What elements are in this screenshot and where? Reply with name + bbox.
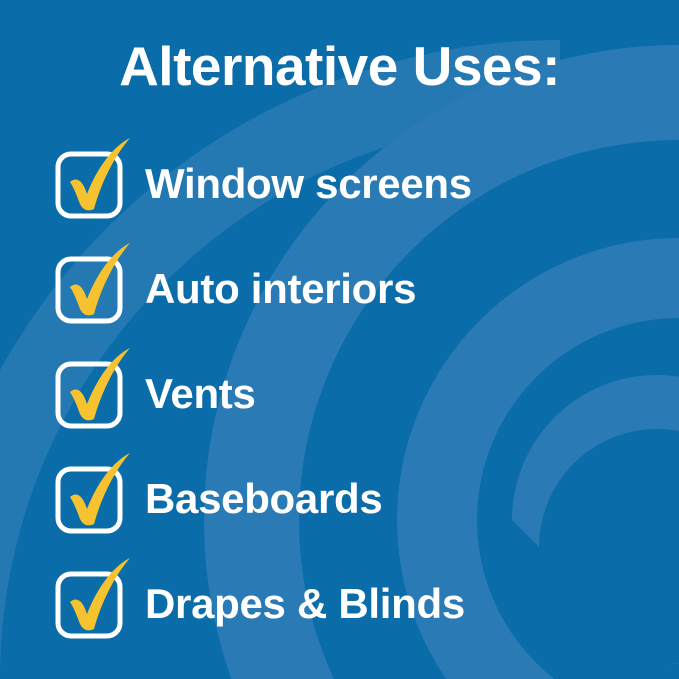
list-item-label: Window screens xyxy=(145,146,472,222)
list-item-label: Drapes & Blinds xyxy=(145,566,465,642)
list-item-label: Vents xyxy=(145,356,256,432)
checkmark-icon xyxy=(50,138,136,224)
checkmark-icon xyxy=(50,453,136,539)
alternative-uses-card: Alternative Uses: Window screens Auto in… xyxy=(0,0,679,679)
list-item[interactable]: Auto interiors xyxy=(50,243,650,348)
list-item[interactable]: Baseboards xyxy=(50,453,650,558)
checkmark-icon xyxy=(50,243,136,329)
checkbox-window-screens[interactable] xyxy=(50,138,136,224)
alternative-uses-list: Window screens Auto interiors Vents xyxy=(50,138,650,663)
list-item-label: Auto interiors xyxy=(145,251,416,327)
checkbox-drapes-blinds[interactable] xyxy=(50,558,136,644)
checkbox-auto-interiors[interactable] xyxy=(50,243,136,329)
checkmark-icon xyxy=(50,348,136,434)
list-item[interactable]: Drapes & Blinds xyxy=(50,558,650,663)
list-item-label: Baseboards xyxy=(145,461,382,537)
list-item[interactable]: Vents xyxy=(50,348,650,453)
page-title: Alternative Uses: xyxy=(0,36,679,97)
checkbox-vents[interactable] xyxy=(50,348,136,434)
checkmark-icon xyxy=(50,558,136,644)
list-item[interactable]: Window screens xyxy=(50,138,650,243)
checkbox-baseboards[interactable] xyxy=(50,453,136,539)
